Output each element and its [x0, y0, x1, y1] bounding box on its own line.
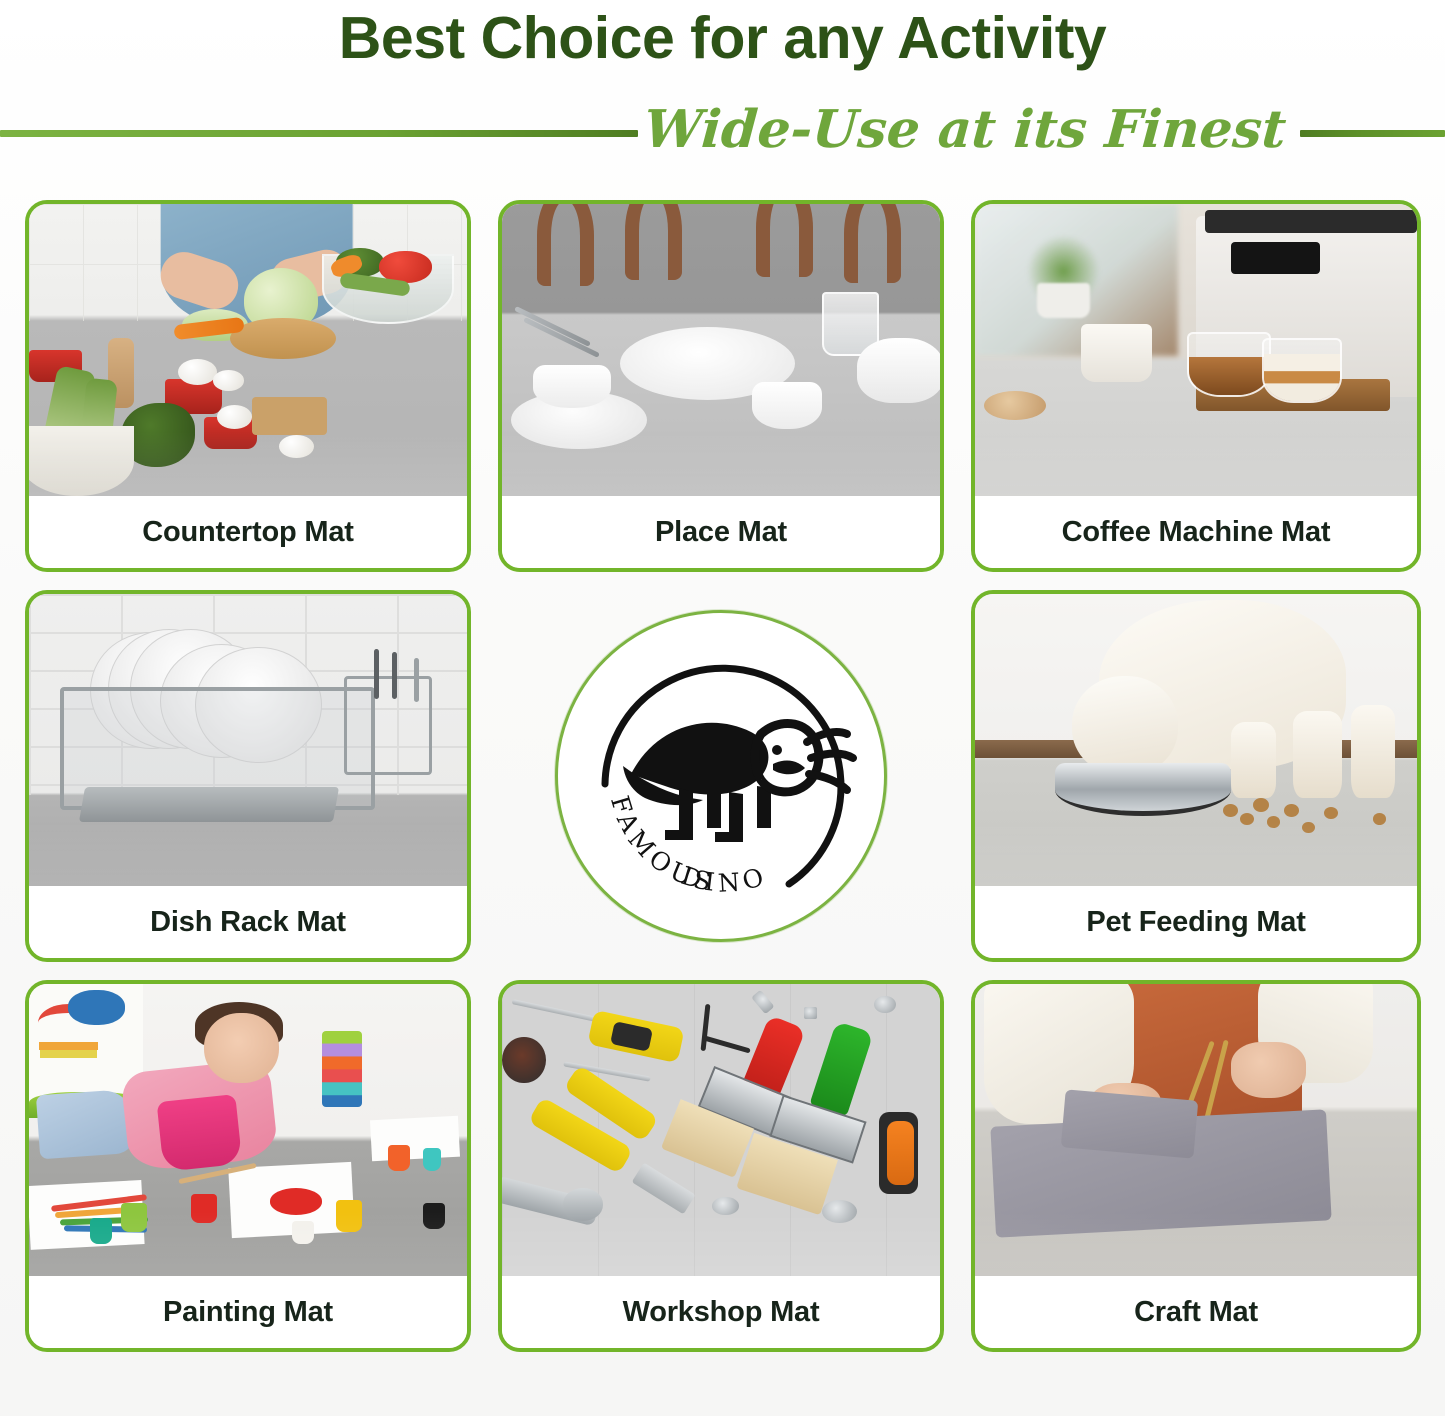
card-coffee-machine-mat[interactable]: Coffee Machine Mat [971, 200, 1421, 572]
svg-text:DINO: DINO [678, 861, 772, 898]
page-title: Best Choice for any Activity [0, 2, 1445, 74]
card-pet-feeding-mat[interactable]: Pet Feeding Mat [971, 590, 1421, 962]
header: Best Choice for any Activity Wide-Use at… [0, 0, 1445, 182]
card-label-pet-feeding-mat: Pet Feeding Mat [975, 886, 1417, 958]
card-label-craft-mat: Craft Mat [975, 1276, 1417, 1348]
card-painting-mat[interactable]: Painting Mat [25, 980, 471, 1352]
card-workshop-mat[interactable]: Workshop Mat [498, 980, 944, 1352]
card-label-countertop-mat: Countertop Mat [29, 496, 467, 568]
card-image-painting-mat [29, 984, 467, 1276]
card-countertop-mat[interactable]: Countertop Mat [25, 200, 471, 572]
card-image-workshop-mat [502, 984, 940, 1276]
card-dish-rack-mat[interactable]: Dish Rack Mat [25, 590, 471, 962]
brand-logo: FAMOUS DINO [555, 610, 887, 942]
divider-right [1300, 130, 1445, 137]
card-label-coffee-machine-mat: Coffee Machine Mat [975, 496, 1417, 568]
infographic-page: Best Choice for any Activity Wide-Use at… [0, 0, 1445, 1416]
feature-grid: Countertop Mat [25, 200, 1421, 1352]
card-image-place-mat [502, 204, 940, 496]
card-label-place-mat: Place Mat [502, 496, 940, 568]
card-image-pet-feeding-mat [975, 594, 1417, 886]
subtitle-row: Wide-Use at its Finest [0, 92, 1445, 172]
card-label-workshop-mat: Workshop Mat [502, 1276, 940, 1348]
triceratops-dinosaur-icon: FAMOUS DINO [561, 616, 881, 936]
card-place-mat[interactable]: Place Mat [498, 200, 944, 572]
page-subtitle: Wide-Use at its Finest [627, 90, 1303, 170]
logo-word-dino: DINO [678, 861, 772, 898]
card-image-coffee-machine-mat [975, 204, 1417, 496]
card-image-dish-rack-mat [29, 594, 467, 886]
card-label-dish-rack-mat: Dish Rack Mat [29, 886, 467, 958]
brand-logo-cell: FAMOUS DINO [498, 590, 944, 962]
card-label-painting-mat: Painting Mat [29, 1276, 467, 1348]
card-image-craft-mat [975, 984, 1417, 1276]
card-image-countertop-mat [29, 204, 467, 496]
divider-left [0, 130, 638, 137]
card-craft-mat[interactable]: Craft Mat [971, 980, 1421, 1352]
